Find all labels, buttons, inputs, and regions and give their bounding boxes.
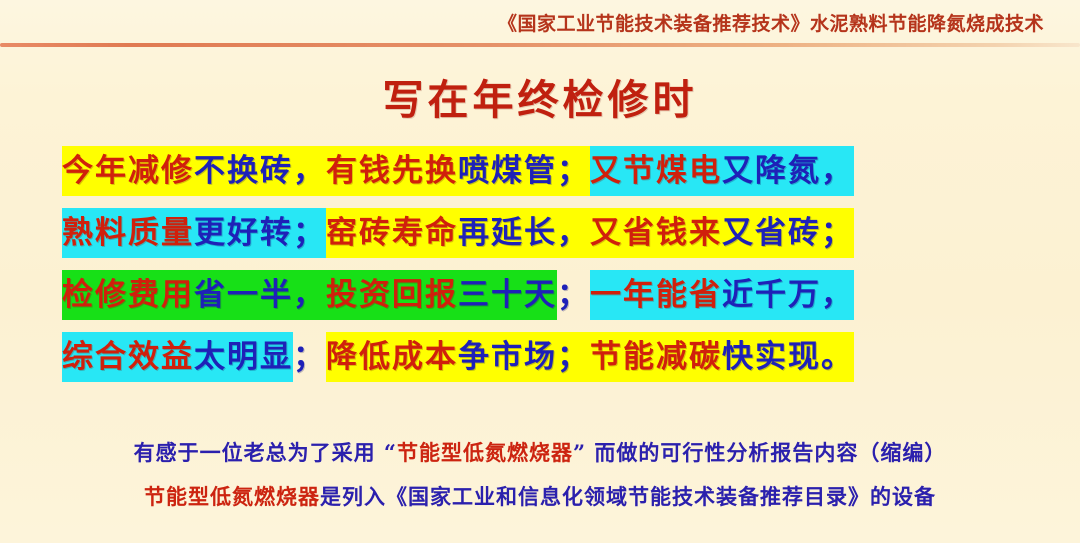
poem-segment: 又省钱来 — [590, 208, 722, 258]
poem-segment: 三十天 — [458, 270, 557, 320]
poem-segment: 又省砖； — [722, 208, 854, 258]
poem-segment: 窑砖寿命 — [326, 208, 458, 258]
footnote-segment: ” 而做的可行性分析报告内容（缩编） — [573, 440, 946, 465]
footnote-segment: 有感于一位老总为了采用 “ — [134, 440, 397, 465]
page-title: 写在年终检修时 — [0, 66, 1080, 126]
poem-segment: 检修费用 — [62, 270, 194, 320]
poem-line: 综合效益太明显；降低成本争市场；节能减碳快实现。 — [0, 326, 1080, 388]
poem-segment: 快实现。 — [722, 332, 854, 382]
footnote-segment: 节能型低氮燃烧器 — [397, 440, 573, 465]
poem-segment: ； — [293, 332, 326, 382]
poem-segment: 有钱先换 — [326, 146, 458, 196]
header-title: 《国家工业节能技术装备推荐技术》水泥熟料节能降氮烧成技术 — [498, 9, 1044, 36]
poem-segment: 投资回报 — [326, 270, 458, 320]
slide: 《国家工业节能技术装备推荐技术》水泥熟料节能降氮烧成技术 写在年终检修时 今年减… — [0, 0, 1080, 543]
poem-segment: 争市场； — [458, 332, 590, 382]
poem-segment: 降低成本 — [326, 332, 458, 382]
poem-segment: 今年减修 — [62, 146, 194, 196]
poem-segment: 太明显 — [194, 332, 293, 382]
poem-segment: 省一半， — [194, 270, 326, 320]
poem-segment: ； — [557, 270, 590, 320]
poem-segment: 一年能省 — [590, 270, 722, 320]
footnote-segment: 是列入《国家工业和信息化领域节能技术装备推荐目录》的设备 — [320, 484, 936, 509]
header-divider — [0, 43, 1080, 47]
poem-segment: 近千万， — [722, 270, 854, 320]
poem-segment: 喷煤管； — [458, 146, 590, 196]
poem-line: 熟料质量更好转；窑砖寿命再延长，又省钱来又省砖； — [0, 202, 1080, 264]
footnote-line-2: 节能型低氮燃烧器是列入《国家工业和信息化领域节能技术装备推荐目录》的设备 — [0, 481, 1080, 511]
slide-header: 《国家工业节能技术装备推荐技术》水泥熟料节能降氮烧成技术 — [0, 0, 1080, 44]
poem-segment: 又节煤电 — [590, 146, 722, 196]
poem-segment: 节能减碳 — [590, 332, 722, 382]
poem-segment: 更好转； — [194, 208, 326, 258]
poem-segment: 再延长， — [458, 208, 590, 258]
footnote-segment: 节能型低氮燃烧器 — [144, 484, 320, 509]
poem-block: 今年减修不换砖，有钱先换喷煤管；又节煤电又降氮，熟料质量更好转；窑砖寿命再延长，… — [0, 140, 1080, 388]
footnote-line-1: 有感于一位老总为了采用 “节能型低氮燃烧器” 而做的可行性分析报告内容（缩编） — [0, 437, 1080, 467]
poem-segment: 综合效益 — [62, 332, 194, 382]
poem-line: 检修费用省一半，投资回报三十天；一年能省近千万， — [0, 264, 1080, 326]
poem-segment: 熟料质量 — [62, 208, 194, 258]
poem-segment: 不换砖， — [194, 146, 326, 196]
poem-line: 今年减修不换砖，有钱先换喷煤管；又节煤电又降氮， — [0, 140, 1080, 202]
poem-segment: 又降氮， — [722, 146, 854, 196]
